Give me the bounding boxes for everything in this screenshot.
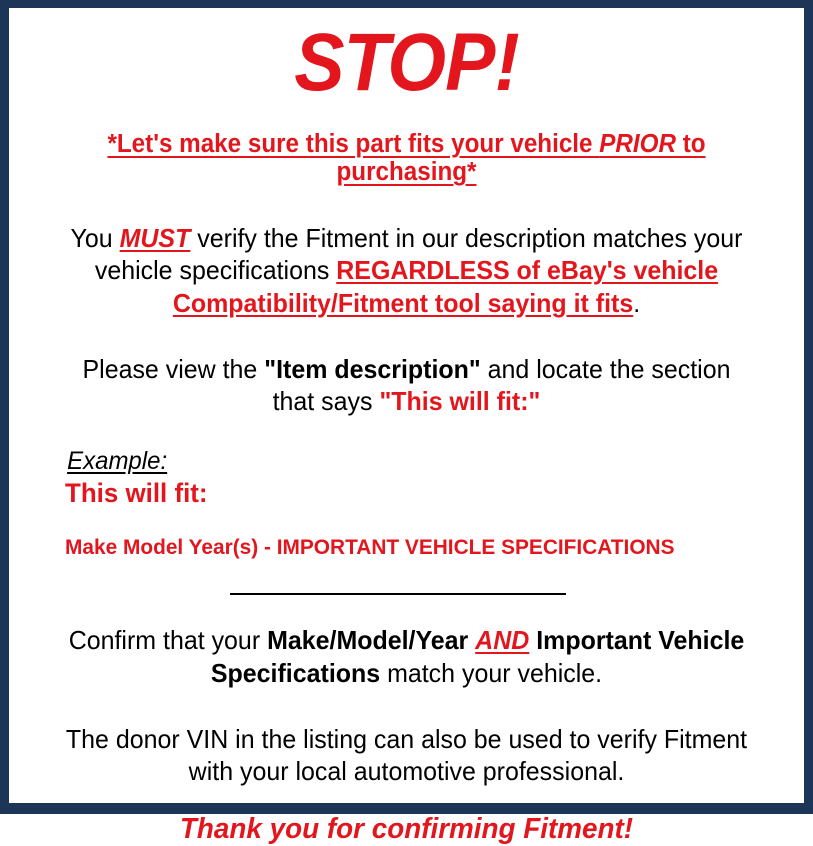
divider-wrap	[19, 582, 794, 600]
must-verify-paragraph: You MUST verify the Fitment in our descr…	[35, 222, 779, 319]
must-text-3: .	[633, 288, 640, 318]
and-emphasis: AND	[475, 625, 529, 655]
confirm-space-2	[529, 625, 536, 655]
example-fit-heading: This will fit:	[65, 478, 765, 509]
must-emphasis: MUST	[120, 223, 191, 253]
view-text-1: Please view the	[83, 354, 265, 384]
confirm-text-1: Confirm that your	[69, 625, 267, 655]
notice-inner: STOP! *Let's make sure this part fits yo…	[9, 22, 804, 817]
thank-you-line: Thank you for confirming Fitment!	[35, 813, 779, 846]
confirm-text-2: match your vehicle.	[380, 658, 602, 688]
item-description-emphasis: "Item description"	[264, 354, 480, 384]
make-model-year-emphasis: Make/Model/Year	[267, 625, 468, 655]
donor-vin-paragraph: The donor VIN in the listing can also be…	[35, 723, 779, 787]
fitment-tagline: *Let's make sure this part fits your veh…	[38, 130, 774, 186]
example-spec-line: Make Model Year(s) - IMPORTANT VEHICLE S…	[65, 535, 772, 560]
this-will-fit-emphasis: "This will fit:"	[379, 386, 540, 416]
stop-headline: STOP!	[50, 22, 763, 104]
example-block: Example: This will fit: Make Model Year(…	[19, 447, 794, 560]
tagline-emphasis-prior: PRIOR	[599, 130, 676, 158]
must-text-1: You	[71, 223, 120, 253]
tagline-text-before: *Let's make sure this part fits your veh…	[107, 130, 599, 158]
confirm-paragraph: Confirm that your Make/Model/Year AND Im…	[35, 624, 779, 688]
section-divider	[230, 593, 566, 595]
fitment-notice-card: STOP! *Let's make sure this part fits yo…	[0, 0, 813, 814]
item-description-paragraph: Please view the "Item description" and l…	[35, 353, 779, 417]
example-label-row: Example:	[65, 447, 794, 476]
example-label: Example:	[67, 447, 167, 476]
